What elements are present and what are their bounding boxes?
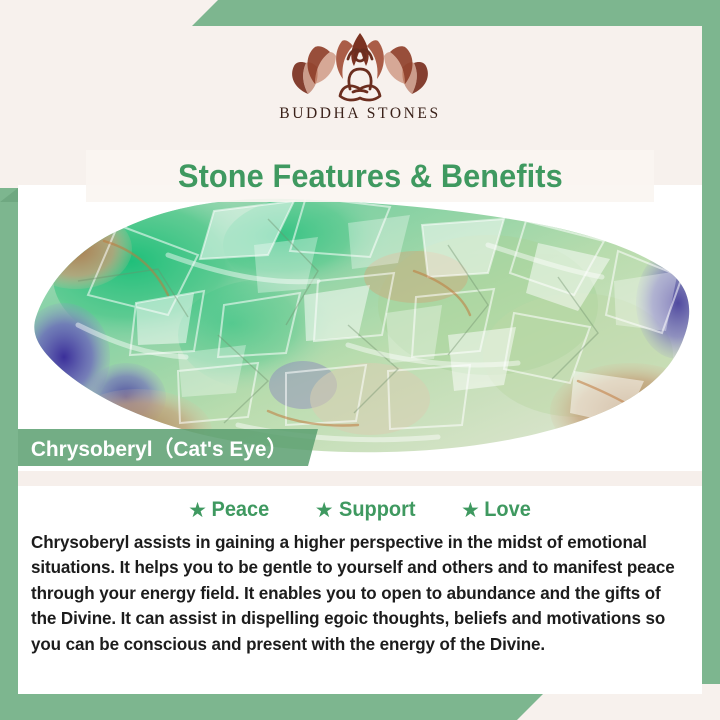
frame-left-bar [0, 188, 18, 720]
content-panel: ★ Peace ★ Support ★ Love Chrysoberyl ass… [18, 471, 702, 694]
keyword-label: Peace [211, 498, 269, 522]
stone-name-label: Chrysoberyl（Cat's Eye） [22, 432, 287, 463]
lotus-meditation-icon [286, 30, 434, 102]
keyword-item-peace: ★ Peace [188, 498, 271, 522]
star-icon: ★ [188, 500, 207, 521]
stone-info-poster: BUDDHA STONES [0, 0, 720, 720]
stone-description: Chrysoberyl assists in gaining a higher … [31, 530, 679, 657]
brand-header: BUDDHA STONES [18, 26, 702, 138]
page-title: Stone Features & Benefits [178, 158, 563, 195]
frame-right-bar [702, 0, 720, 684]
keyword-label: Love [484, 498, 531, 522]
brand-wordmark: BUDDHA STONES [279, 105, 440, 123]
content-divider [18, 471, 702, 486]
keyword-item-support: ★ Support [315, 498, 417, 522]
keyword-item-love: ★ Love [461, 498, 532, 522]
star-icon: ★ [461, 500, 480, 521]
star-icon: ★ [315, 500, 334, 521]
section-title-band: Stone Features & Benefits [86, 150, 654, 202]
keyword-label: Support [339, 498, 415, 522]
stone-name-banner: Chrysoberyl（Cat's Eye） [18, 429, 318, 466]
frame-top-bar [192, 0, 720, 26]
poster-page: BUDDHA STONES [18, 26, 702, 694]
frame-bottom-bar [0, 694, 543, 720]
stone-photo: Chrysoberyl（Cat's Eye） [18, 185, 702, 471]
keyword-list: ★ Peace ★ Support ★ Love [18, 498, 702, 522]
